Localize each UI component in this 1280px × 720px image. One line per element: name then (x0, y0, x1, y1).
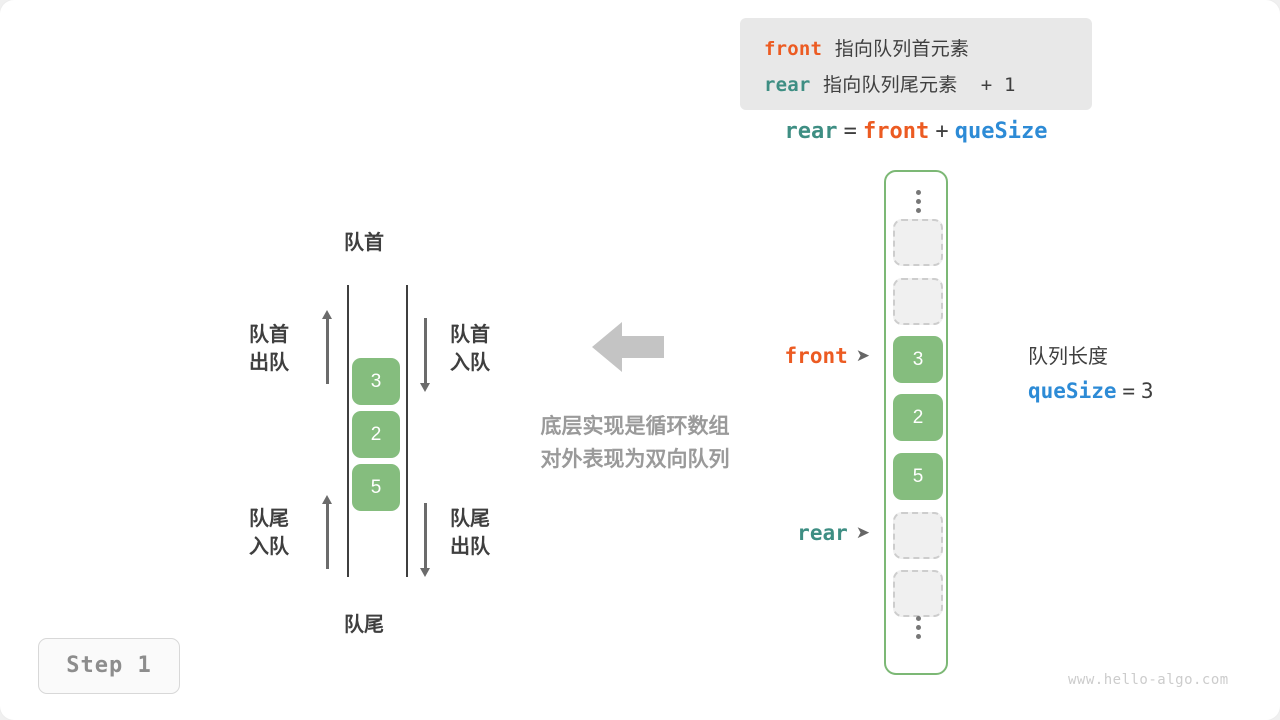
queue-length-value-row: queSize = 3 (1028, 379, 1154, 404)
array-bottom-ellipsis-icon (886, 612, 950, 639)
formula-rear-equals-front-plus-quesize: rear = front + queSize (740, 118, 1092, 144)
legend-rear-text: 指向队列尾元素 (823, 74, 957, 96)
watermark: www.hello-algo.com (1068, 672, 1229, 688)
rear-pointer-arrow-icon: ➤ (856, 523, 870, 543)
quesize-value: 3 (1141, 379, 1154, 403)
head-enqueue-label: 队首 入队 (450, 320, 490, 376)
quesize-equals: = (1122, 379, 1135, 403)
center-caption-line1: 底层实现是循环数组 (490, 410, 780, 443)
queue-rail-right (406, 285, 408, 577)
formula-lhs: rear (785, 119, 838, 144)
array-cell (893, 570, 943, 617)
circular-array-container: 3 2 5 (884, 170, 948, 675)
legend-front-symbol: front (764, 38, 822, 60)
queue-rail-left (347, 285, 349, 577)
formula-rhs-quesize: queSize (955, 119, 1048, 144)
array-cell (893, 278, 943, 325)
queue-cell: 2 (352, 411, 400, 458)
formula-rhs-front: front (863, 119, 929, 144)
rear-pointer-text: rear (797, 521, 848, 545)
front-pointer-label: front➤ (700, 344, 870, 369)
tail-dequeue-label: 队尾 出队 (450, 504, 490, 560)
tail-dequeue-arrow-icon (424, 503, 427, 569)
tail-enqueue-arrow-icon (326, 503, 329, 569)
diagram-canvas: front 指向队列首元素 rear 指向队列尾元素 + 1 rear = fr… (0, 0, 1280, 720)
center-caption: 底层实现是循环数组 对外表现为双向队列 (490, 410, 780, 476)
array-cell: 5 (893, 453, 943, 500)
legend-box: front 指向队列首元素 rear 指向队列尾元素 + 1 (740, 18, 1092, 110)
left-arrow-icon (592, 320, 664, 374)
head-dequeue-label: 队首 出队 (249, 320, 289, 376)
front-pointer-arrow-icon: ➤ (856, 346, 870, 366)
queue-length-title: 队列长度 (1028, 340, 1154, 369)
array-cell (893, 512, 943, 559)
queue-head-label: 队首 (344, 228, 384, 256)
queue-tail-label: 队尾 (344, 610, 384, 638)
legend-line-front: front 指向队列首元素 (764, 34, 969, 61)
head-dequeue-arrow-icon (326, 318, 329, 384)
legend-rear-suffix: + 1 (981, 74, 1016, 96)
rear-pointer-label: rear➤ (700, 521, 870, 546)
center-caption-line2: 对外表现为双向队列 (490, 443, 780, 476)
queue-cell: 3 (352, 358, 400, 405)
queue-cell: 5 (352, 464, 400, 511)
front-pointer-text: front (785, 344, 848, 368)
step-badge: Step 1 (38, 638, 180, 694)
head-enqueue-arrow-icon (424, 318, 427, 384)
formula-plus: + (935, 119, 948, 144)
tail-enqueue-label: 队尾 入队 (249, 504, 289, 560)
queue-length-note: 队列长度 queSize = 3 (1028, 340, 1154, 404)
array-top-ellipsis-icon (886, 186, 950, 213)
legend-rear-symbol: rear (764, 74, 811, 96)
quesize-symbol: queSize (1028, 379, 1117, 403)
formula-equals: = (844, 119, 857, 144)
array-cell (893, 219, 943, 266)
array-cell: 3 (893, 336, 943, 383)
legend-front-text: 指向队列首元素 (835, 38, 969, 60)
array-cell: 2 (893, 394, 943, 441)
legend-line-rear: rear 指向队列尾元素 + 1 (764, 70, 1016, 97)
